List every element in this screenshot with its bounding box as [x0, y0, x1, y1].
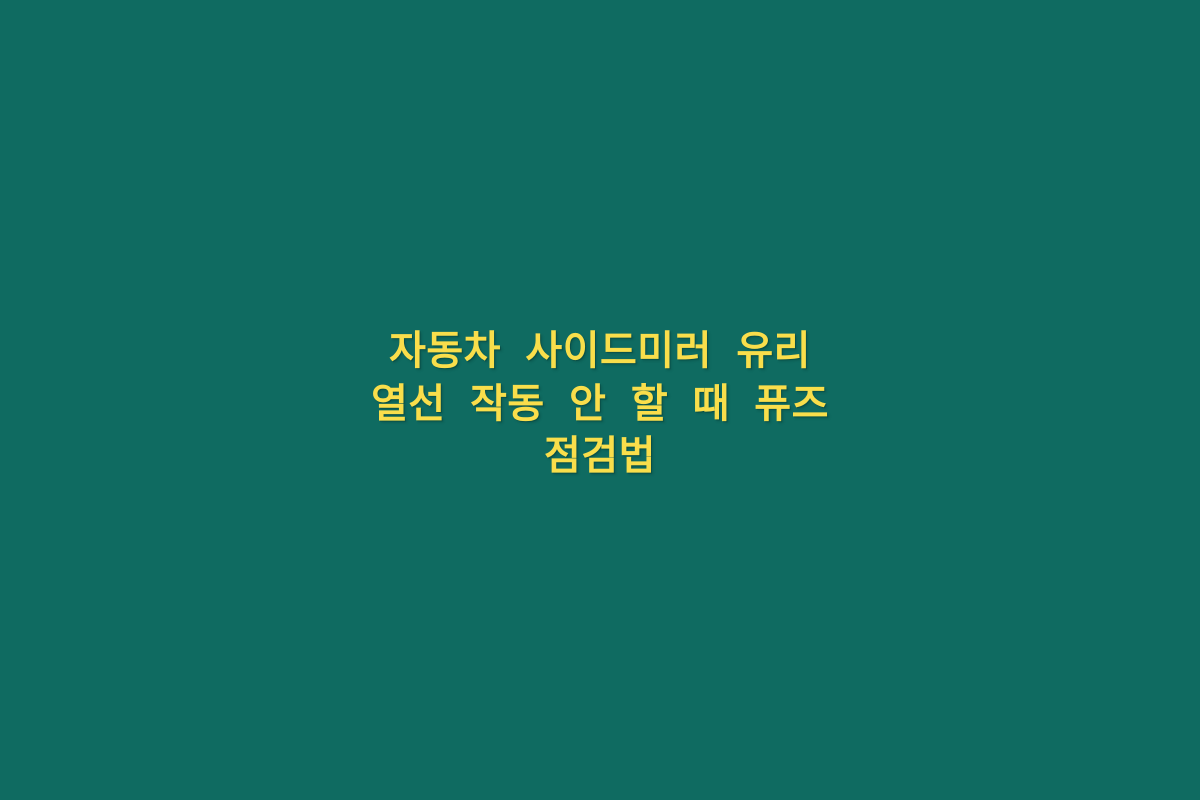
headline-line-2: 열선 작동 안 할 때 퓨즈: [40, 378, 1160, 431]
headline-text-block: 자동차 사이드미러 유리 열선 작동 안 할 때 퓨즈 점검법: [40, 325, 1160, 483]
headline-line-3: 점검법: [40, 430, 1160, 483]
thumbnail-card: 자동차 사이드미러 유리 열선 작동 안 할 때 퓨즈 점검법: [0, 0, 1200, 800]
headline-line-1: 자동차 사이드미러 유리: [40, 325, 1160, 378]
